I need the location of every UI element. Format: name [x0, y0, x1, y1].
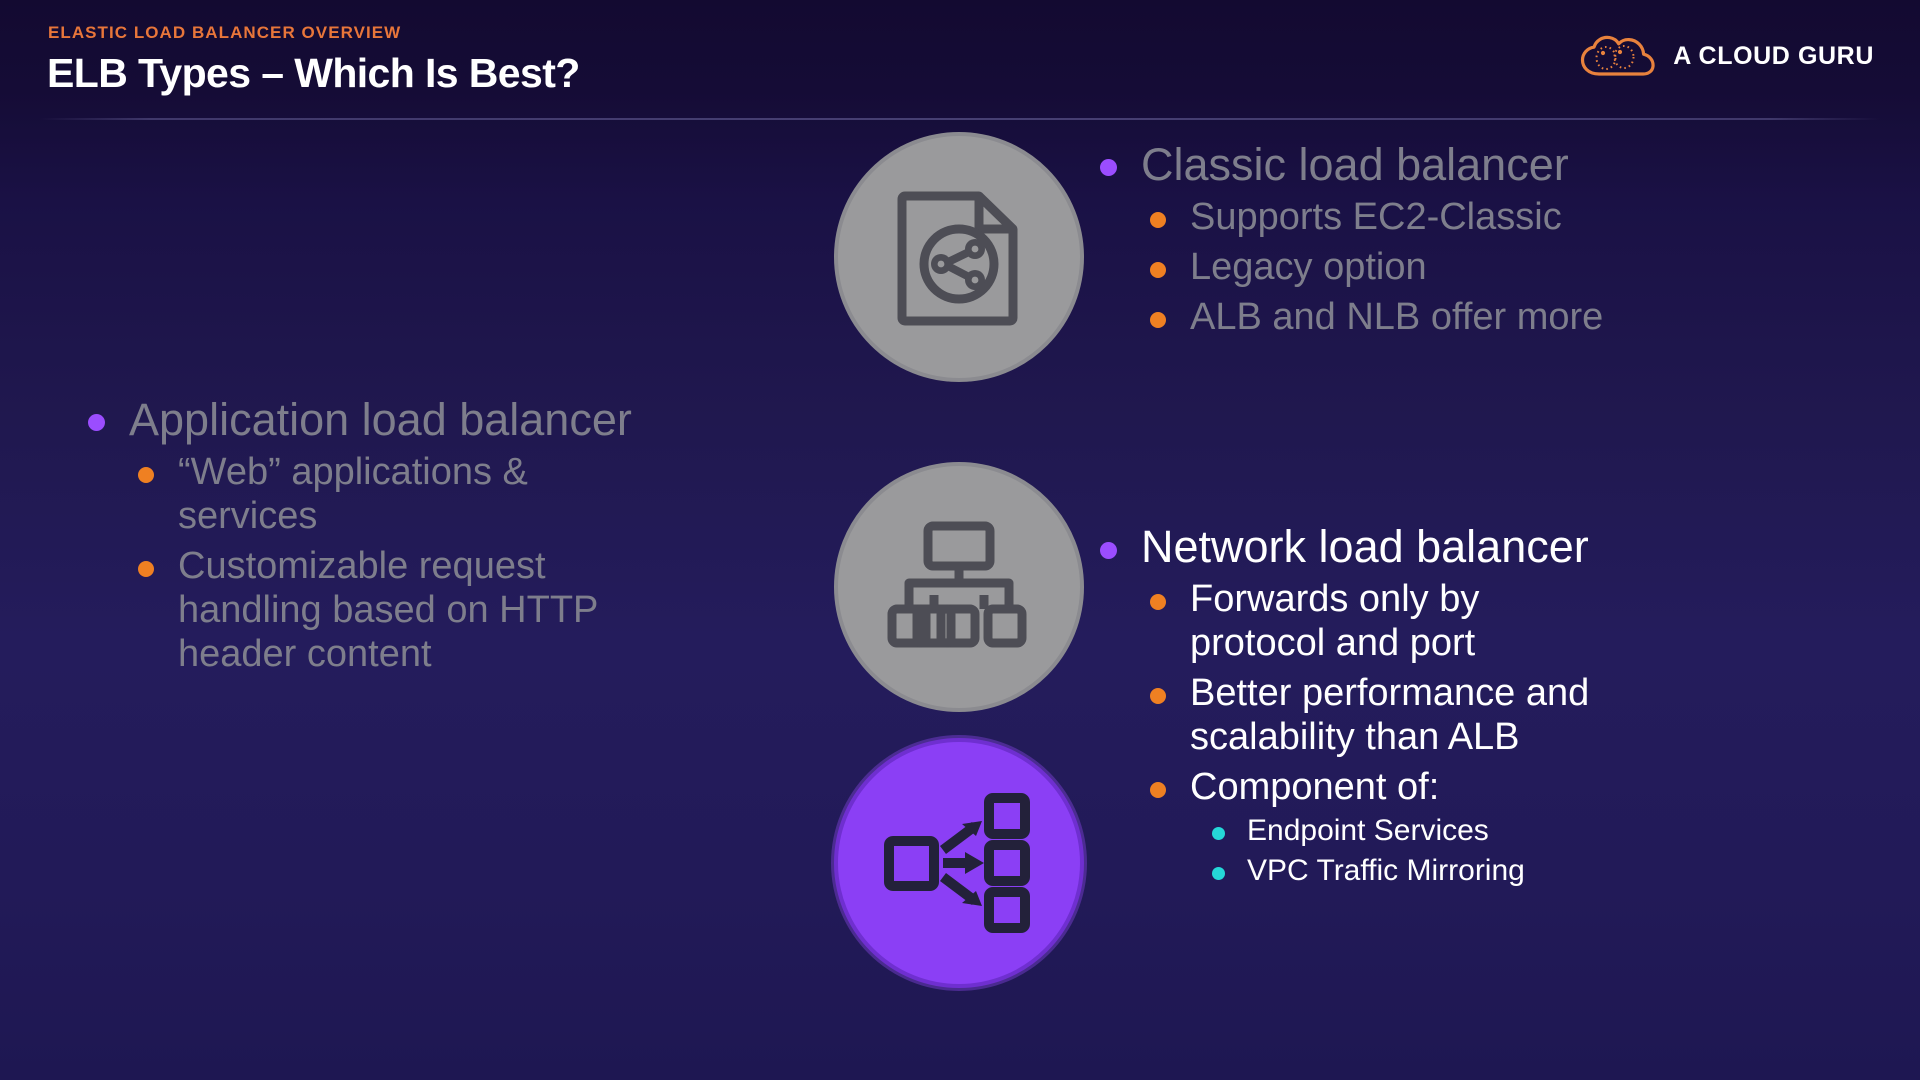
- bullet-dot-level1: [1100, 159, 1117, 176]
- classic-lb-heading-row: Classic load balancer: [1100, 142, 1800, 189]
- network-lb-bullets: Network load balancer Forwards only by p…: [1100, 524, 1830, 889]
- page-title: ELB Types – Which Is Best?: [47, 50, 580, 97]
- list-item: Forwards only by protocol and port: [1150, 577, 1830, 665]
- network-lb-icon-circle: [834, 738, 1084, 988]
- header-divider: [40, 118, 1880, 120]
- list-item: ALB and NLB offer more: [1150, 295, 1800, 339]
- header-eyebrow: ELASTIC LOAD BALANCER OVERVIEW: [48, 23, 401, 43]
- list-item: VPC Traffic Mirroring: [1212, 853, 1830, 889]
- bullet-dot-level1: [1100, 542, 1117, 559]
- network-lb-point: Forwards only by protocol and port: [1190, 577, 1590, 665]
- application-lb-bullets: Application load balancer “Web” applicat…: [88, 397, 788, 676]
- cloud-icon: [1579, 34, 1657, 78]
- classic-lb-point: Legacy option: [1190, 245, 1427, 289]
- application-lb-point: “Web” applications & services: [178, 450, 608, 538]
- classic-lb-heading: Classic load balancer: [1141, 142, 1569, 189]
- list-item: Component of:: [1150, 765, 1830, 809]
- network-lb-point: Better performance and scalability than …: [1190, 671, 1750, 759]
- brand-name: A CLOUD GURU: [1673, 42, 1874, 71]
- network-lb-heading-row: Network load balancer: [1100, 524, 1830, 571]
- bullet-dot-level2: [138, 561, 154, 577]
- network-lb-subpoint: VPC Traffic Mirroring: [1247, 853, 1525, 889]
- list-item: Supports EC2-Classic: [1150, 195, 1800, 239]
- bullet-dot-level3: [1212, 867, 1225, 880]
- classic-lb-point: Supports EC2-Classic: [1190, 195, 1562, 239]
- list-item: Endpoint Services: [1212, 813, 1830, 849]
- application-lb-heading-row: Application load balancer: [88, 397, 788, 444]
- hierarchy-tree-icon: [884, 521, 1034, 653]
- brand-logo: A CLOUD GURU: [1579, 34, 1874, 78]
- fan-out-arrows-icon-svg: [884, 793, 1034, 933]
- bullet-dot-level1: [88, 414, 105, 431]
- bullet-dot-level2: [1150, 782, 1166, 798]
- bullet-dot-level2: [138, 467, 154, 483]
- hierarchy-tree-icon-svg: [884, 521, 1034, 653]
- classic-lb-bullets: Classic load balancer Supports EC2-Class…: [1100, 142, 1800, 339]
- bullet-dot-level2: [1150, 594, 1166, 610]
- cloud-icon-svg: [1579, 34, 1657, 78]
- list-item: Better performance and scalability than …: [1150, 671, 1830, 759]
- application-lb-heading: Application load balancer: [129, 397, 632, 444]
- network-lb-subpoint: Endpoint Services: [1247, 813, 1489, 849]
- bullet-dot-level2: [1150, 312, 1166, 328]
- slide-header: ELASTIC LOAD BALANCER OVERVIEW ELB Types…: [0, 0, 1920, 120]
- bullet-dot-level3: [1212, 827, 1225, 840]
- document-share-icon: [895, 188, 1023, 326]
- network-lb-heading: Network load balancer: [1141, 524, 1589, 571]
- network-lb-point: Component of:: [1190, 765, 1439, 809]
- list-item: Legacy option: [1150, 245, 1800, 289]
- application-lb-icon-circle: [834, 462, 1084, 712]
- bullet-dot-level2: [1150, 688, 1166, 704]
- bullet-dot-level2: [1150, 212, 1166, 228]
- slide-canvas: ELASTIC LOAD BALANCER OVERVIEW ELB Types…: [0, 0, 1920, 1080]
- classic-lb-icon-circle: [834, 132, 1084, 382]
- bullet-dot-level2: [1150, 262, 1166, 278]
- classic-lb-point: ALB and NLB offer more: [1190, 295, 1603, 339]
- fan-out-arrows-icon: [884, 793, 1034, 933]
- application-lb-point: Customizable request handling based on H…: [178, 544, 648, 676]
- list-item: “Web” applications & services: [138, 450, 788, 538]
- document-share-icon-svg: [895, 188, 1023, 326]
- list-item: Customizable request handling based on H…: [138, 544, 788, 676]
